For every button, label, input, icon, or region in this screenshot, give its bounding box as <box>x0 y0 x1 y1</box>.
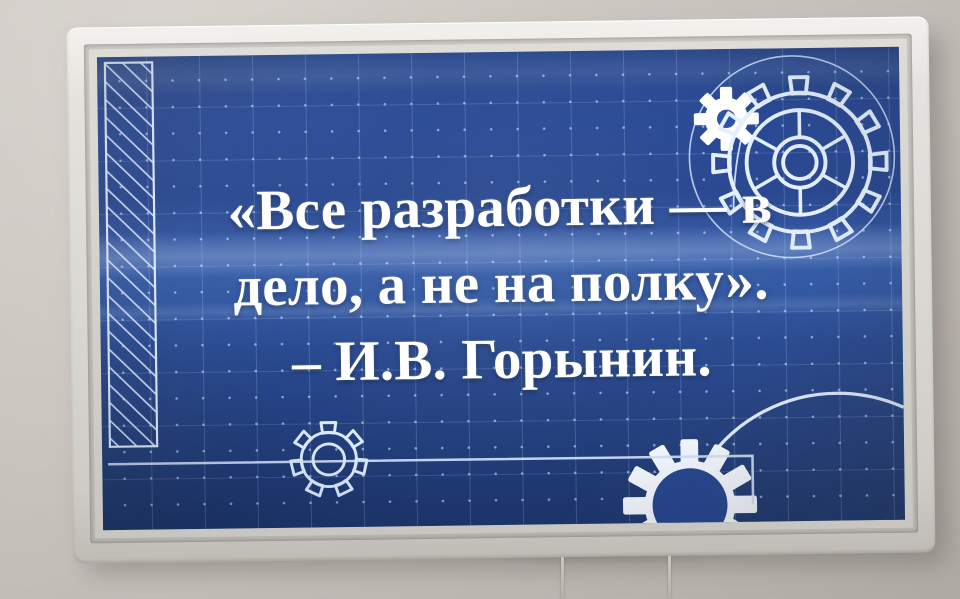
large-solid-gear <box>622 438 758 530</box>
monitor-bezel: «Все разработки — в дело, а не на полку»… <box>67 16 936 563</box>
presentation-screen[interactable]: «Все разработки — в дело, а не на полку»… <box>97 47 905 530</box>
quote-line-2: дело, а не на полку». <box>99 241 902 327</box>
monitor-glass-mat: «Все разработки — в дело, а не на полку»… <box>89 39 913 539</box>
monitor-inner-frame: «Все разработки — в дело, а не на полку»… <box>84 34 918 544</box>
power-cable <box>561 552 564 599</box>
slide-quote-text: «Все разработки — в дело, а не на полку»… <box>98 165 903 403</box>
quote-line-3: – И.В. Горынин. <box>100 317 903 403</box>
wall-mounted-monitor[interactable]: «Все разработки — в дело, а не на полку»… <box>67 16 936 563</box>
quote-line-1: «Все разработки — в <box>98 165 901 251</box>
room-scene: «Все разработки — в дело, а не на полку»… <box>0 0 960 599</box>
small-outline-gear <box>290 422 367 496</box>
signal-cable <box>668 552 671 599</box>
